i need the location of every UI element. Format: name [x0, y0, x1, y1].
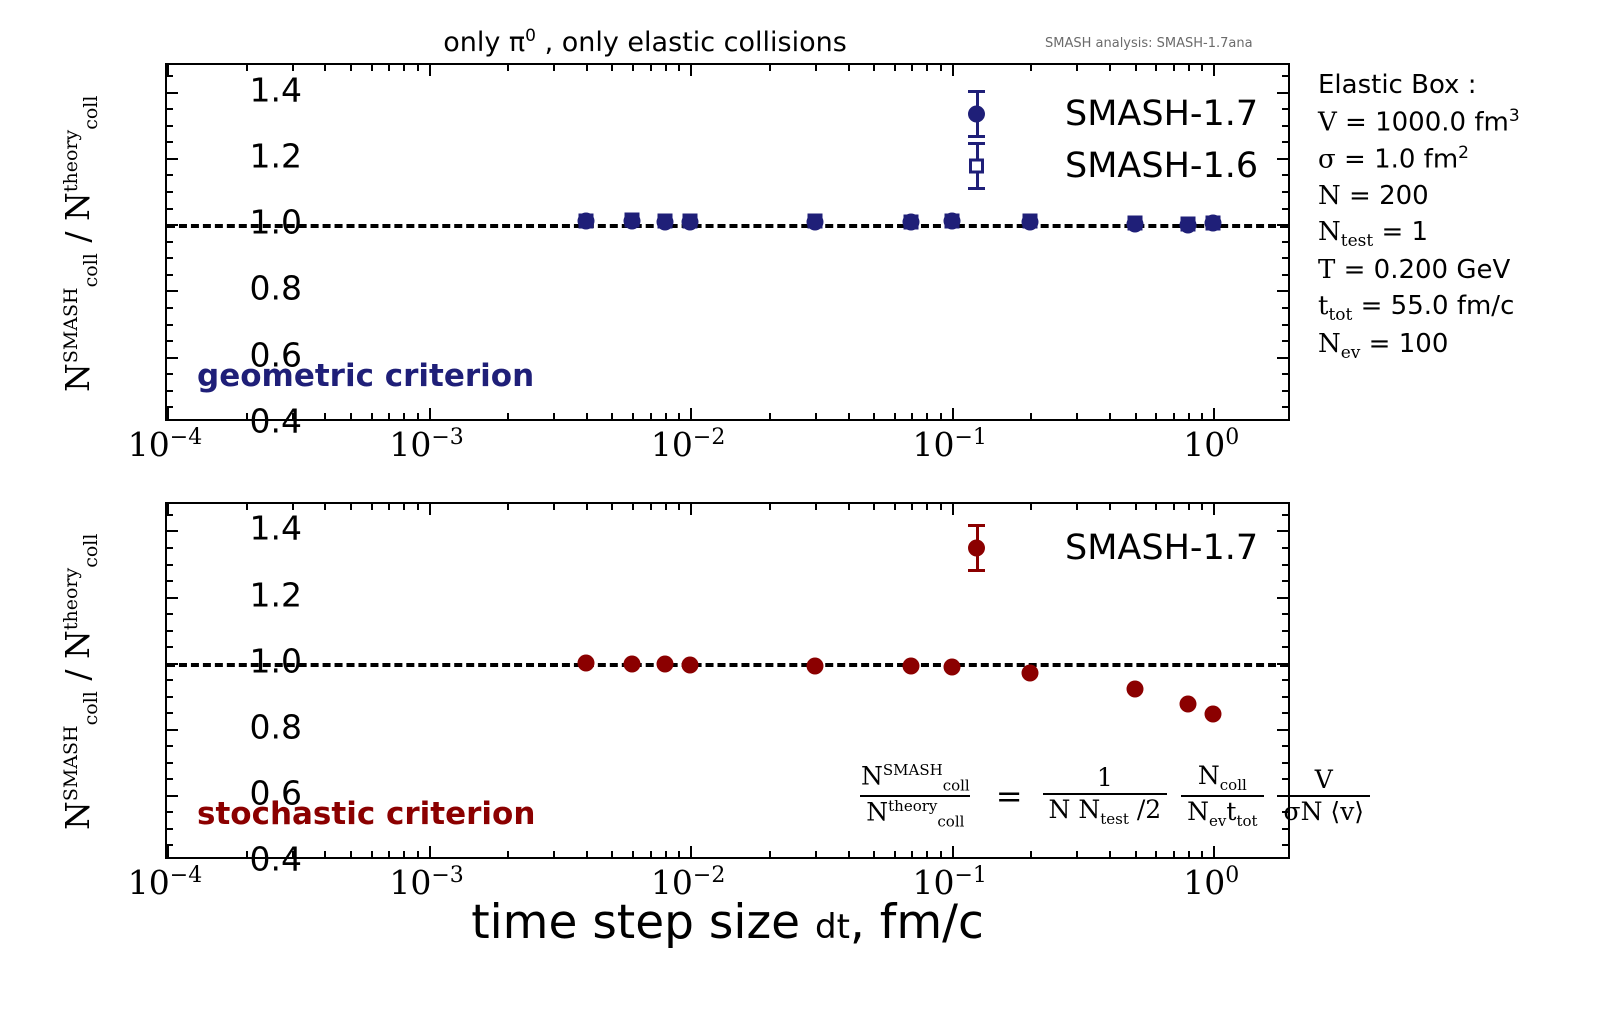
- x-tick-minor: [940, 851, 942, 857]
- y-tick-label: 0.4: [250, 402, 302, 441]
- figure-title-suffix: , only elastic collisions: [536, 27, 847, 58]
- x-tick-minor: [403, 413, 405, 419]
- x-tick-minor: [1076, 851, 1078, 857]
- data-point: [1180, 217, 1195, 232]
- legend-filled-circle-icon: [960, 522, 994, 574]
- x-tick-minor: [350, 413, 352, 419]
- x-tick-label: 10−2: [651, 425, 725, 464]
- x-tick-minor: [894, 413, 896, 419]
- x-tick-minor: [246, 65, 248, 71]
- x-tick-major: [952, 408, 954, 419]
- x-tick-minor: [873, 504, 875, 510]
- x-tick-minor: [1188, 413, 1190, 419]
- y-tick-minor: [167, 630, 173, 632]
- x-tick-minor: [1188, 504, 1190, 510]
- y-tick-label: 0.8: [250, 707, 302, 746]
- x-tick-minor: [1135, 413, 1137, 419]
- x-tick-minor: [1155, 851, 1157, 857]
- y-tick-minor: [1282, 646, 1288, 648]
- x-tick-minor: [940, 504, 942, 510]
- y-tick-minor: [1282, 241, 1288, 243]
- y-tick-minor: [167, 257, 173, 259]
- y-tick-major: [1277, 597, 1288, 599]
- x-tick-minor: [246, 504, 248, 510]
- data-point: [1127, 216, 1142, 231]
- formula-term-2: Ncoll Nevttot: [1181, 762, 1263, 830]
- data-point: [943, 658, 960, 675]
- x-tick-minor: [371, 851, 373, 857]
- y-tick-label: 1.2: [250, 136, 302, 175]
- x-tick-minor: [371, 413, 373, 419]
- x-tick-minor: [324, 413, 326, 419]
- y-tick-minor: [167, 547, 173, 549]
- y-tick-major: [167, 92, 178, 94]
- x-tick-major: [167, 408, 169, 419]
- y-tick-minor: [1282, 141, 1288, 143]
- y-tick-minor: [167, 241, 173, 243]
- x-tick-minor: [665, 413, 667, 419]
- x-tick-major: [952, 504, 954, 515]
- legend-open-square-icon: [960, 140, 994, 192]
- x-tick-major: [167, 65, 169, 76]
- x-tick-major: [1213, 65, 1215, 76]
- y-tick-minor: [1282, 75, 1288, 77]
- x-tick-minor: [388, 504, 390, 510]
- y-tick-major: [1277, 290, 1288, 292]
- x-tick-minor: [417, 504, 419, 510]
- x-tick-minor: [815, 413, 817, 419]
- x-tick-label: 100: [1183, 425, 1239, 464]
- x-tick-minor: [769, 413, 771, 419]
- ratio-formula: NSMASHcoll Ntheorycoll = 1 N Ntest /2 Nc…: [855, 762, 1370, 830]
- annotation-line: Ntest = 1: [1318, 215, 1520, 253]
- data-point: [579, 214, 594, 229]
- x-tick-minor: [417, 851, 419, 857]
- x-tick-minor: [678, 65, 680, 71]
- y-tick-minor: [1282, 514, 1288, 516]
- y-tick-major: [167, 290, 178, 292]
- x-axis-title-units: , fm/c: [850, 895, 984, 950]
- y-tick-major: [167, 663, 178, 665]
- x-tick-minor: [1109, 504, 1111, 510]
- x-tick-minor: [678, 413, 680, 419]
- y-tick-minor: [167, 696, 173, 698]
- x-tick-minor: [911, 413, 913, 419]
- y-tick-major: [167, 597, 178, 599]
- x-tick-minor: [926, 851, 928, 857]
- x-tick-minor: [1030, 413, 1032, 419]
- x-tick-minor: [873, 413, 875, 419]
- x-tick-minor: [1173, 413, 1175, 419]
- x-tick-minor: [324, 851, 326, 857]
- x-tick-minor: [1201, 504, 1203, 510]
- x-tick-minor: [848, 851, 850, 857]
- data-point: [656, 655, 673, 672]
- x-tick-minor: [1109, 65, 1111, 71]
- y-tick-major: [1277, 158, 1288, 160]
- data-point: [624, 656, 641, 673]
- top-y-axis-title: NSMASHcoll / Ntheorycoll: [58, 44, 102, 444]
- y-tick-major: [1277, 663, 1288, 665]
- x-tick-minor: [926, 65, 928, 71]
- data-point: [1206, 215, 1221, 230]
- y-tick-label: 0.8: [250, 269, 302, 308]
- y-tick-major: [167, 795, 178, 797]
- y-tick-major: [1277, 92, 1288, 94]
- x-tick-major: [167, 846, 169, 857]
- x-tick-minor: [1188, 851, 1190, 857]
- annotation-line: σ = 1.0 fm2: [1318, 141, 1520, 178]
- data-point: [1022, 665, 1039, 682]
- x-tick-minor: [1201, 413, 1203, 419]
- x-tick-minor: [350, 851, 352, 857]
- y-tick-minor: [167, 108, 173, 110]
- x-tick-minor: [611, 504, 613, 510]
- x-tick-minor: [350, 504, 352, 510]
- x-tick-minor: [940, 65, 942, 71]
- data-point: [903, 657, 920, 674]
- data-point: [944, 213, 959, 228]
- x-tick-minor: [815, 504, 817, 510]
- x-tick-major: [690, 504, 692, 515]
- y-tick-label: 0.4: [250, 840, 302, 879]
- data-point: [657, 214, 672, 229]
- x-tick-minor: [911, 65, 913, 71]
- y-tick-minor: [167, 828, 173, 830]
- y-tick-major: [167, 224, 178, 226]
- legend-label: SMASH-1.6: [1065, 146, 1258, 186]
- data-point: [578, 654, 595, 671]
- x-tick-minor: [1076, 65, 1078, 71]
- y-tick-minor: [1282, 390, 1288, 392]
- y-tick-minor: [167, 208, 173, 210]
- y-tick-minor: [167, 679, 173, 681]
- y-tick-minor: [167, 340, 173, 342]
- x-tick-minor: [1155, 65, 1157, 71]
- x-tick-minor: [1155, 413, 1157, 419]
- x-tick-minor: [1109, 851, 1111, 857]
- x-tick-minor: [873, 851, 875, 857]
- y-tick-minor: [167, 580, 173, 582]
- x-tick-minor: [1135, 851, 1137, 857]
- y-tick-minor: [1282, 208, 1288, 210]
- x-tick-minor: [586, 65, 588, 71]
- data-point: [625, 213, 640, 228]
- x-tick-major: [429, 504, 431, 515]
- annotation-line: V = 1000.0 fm3: [1318, 104, 1520, 141]
- formula-lhs: NSMASHcoll Ntheorycoll: [855, 762, 976, 830]
- x-tick-label: 10−3: [389, 425, 463, 464]
- y-tick-minor: [1282, 174, 1288, 176]
- data-point: [682, 656, 699, 673]
- x-tick-minor: [911, 504, 913, 510]
- x-tick-minor: [665, 504, 667, 510]
- y-tick-minor: [1282, 307, 1288, 309]
- y-tick-label: 1.4: [250, 70, 302, 109]
- stochastic-criterion-label: stochastic criterion: [197, 796, 535, 832]
- y-tick-minor: [167, 191, 173, 193]
- data-point: [1205, 705, 1222, 722]
- x-tick-minor: [678, 504, 680, 510]
- y-tick-minor: [167, 564, 173, 566]
- x-tick-minor: [1135, 65, 1137, 71]
- y-tick-minor: [1282, 324, 1288, 326]
- y-tick-minor: [1282, 108, 1288, 110]
- data-point: [1179, 695, 1196, 712]
- y-tick-minor: [1282, 547, 1288, 549]
- x-tick-minor: [553, 413, 555, 419]
- x-tick-minor: [632, 413, 634, 419]
- x-tick-minor: [894, 504, 896, 510]
- x-tick-minor: [815, 65, 817, 71]
- x-tick-minor: [926, 413, 928, 419]
- y-tick-minor: [1282, 257, 1288, 259]
- y-tick-minor: [1282, 745, 1288, 747]
- x-tick-minor: [586, 413, 588, 419]
- x-tick-major: [952, 65, 954, 76]
- x-tick-major: [1213, 846, 1215, 857]
- y-tick-minor: [167, 390, 173, 392]
- x-tick-minor: [1188, 65, 1190, 71]
- x-tick-minor: [586, 504, 588, 510]
- bottom-y-axis-title: NSMASHcoll / Ntheorycoll: [58, 482, 102, 882]
- unity-reference-line: [167, 663, 1288, 667]
- y-tick-minor: [1282, 274, 1288, 276]
- x-tick-minor: [246, 413, 248, 419]
- x-tick-minor: [650, 851, 652, 857]
- annotation-title: Elastic Box :: [1318, 68, 1520, 104]
- y-tick-major: [1277, 530, 1288, 532]
- formula-term-1: 1 N Ntest /2: [1043, 764, 1168, 828]
- x-tick-minor: [417, 413, 419, 419]
- unity-reference-line: [167, 224, 1288, 228]
- x-tick-major: [952, 846, 954, 857]
- x-axis-title-dt: dt: [815, 907, 850, 947]
- x-tick-minor: [665, 851, 667, 857]
- x-tick-minor: [1173, 504, 1175, 510]
- x-tick-minor: [678, 851, 680, 857]
- x-tick-minor: [873, 65, 875, 71]
- x-tick-minor: [650, 65, 652, 71]
- figure-canvas: only π0 , only elastic collisions SMASH …: [0, 0, 1600, 1018]
- y-tick-minor: [167, 811, 173, 813]
- x-tick-minor: [665, 65, 667, 71]
- y-tick-major: [167, 729, 178, 731]
- y-tick-minor: [1282, 712, 1288, 714]
- x-tick-minor: [769, 504, 771, 510]
- formula-term-3: V σN ⟨v⟩: [1278, 766, 1371, 826]
- x-tick-minor: [769, 851, 771, 857]
- x-tick-minor: [926, 504, 928, 510]
- data-point: [806, 657, 823, 674]
- x-tick-minor: [371, 504, 373, 510]
- x-tick-minor: [611, 65, 613, 71]
- x-tick-major: [690, 846, 692, 857]
- x-tick-minor: [1030, 504, 1032, 510]
- figure-title-prefix: only: [443, 27, 509, 58]
- y-tick-minor: [1282, 580, 1288, 582]
- x-tick-minor: [632, 65, 634, 71]
- x-tick-minor: [507, 413, 509, 419]
- annotation-line: T = 0.200 GeV: [1318, 253, 1520, 289]
- y-tick-minor: [1282, 125, 1288, 127]
- y-tick-minor: [167, 174, 173, 176]
- y-tick-label: 1.2: [250, 575, 302, 614]
- x-tick-minor: [1135, 504, 1137, 510]
- data-point: [1023, 214, 1038, 229]
- y-tick-minor: [167, 712, 173, 714]
- x-tick-minor: [586, 851, 588, 857]
- x-tick-minor: [815, 851, 817, 857]
- x-tick-minor: [403, 851, 405, 857]
- x-tick-minor: [1109, 413, 1111, 419]
- annotation-line: Nev = 100: [1318, 327, 1520, 365]
- data-point: [904, 214, 919, 229]
- y-tick-minor: [167, 307, 173, 309]
- x-tick-minor: [507, 65, 509, 71]
- x-tick-label: 10−1: [912, 425, 986, 464]
- y-tick-minor: [1282, 406, 1288, 408]
- x-tick-minor: [388, 413, 390, 419]
- x-tick-minor: [1201, 65, 1203, 71]
- analysis-tag: SMASH analysis: SMASH-1.7ana: [1045, 36, 1253, 51]
- x-tick-minor: [650, 413, 652, 419]
- legend-filled-circle-icon: [960, 88, 994, 140]
- x-tick-minor: [246, 851, 248, 857]
- x-tick-minor: [417, 65, 419, 71]
- x-tick-minor: [650, 504, 652, 510]
- y-tick-major: [1277, 729, 1288, 731]
- x-tick-minor: [848, 504, 850, 510]
- y-tick-minor: [1282, 373, 1288, 375]
- x-tick-minor: [632, 504, 634, 510]
- x-tick-minor: [848, 413, 850, 419]
- x-tick-minor: [1155, 504, 1157, 510]
- x-tick-label: 10−4: [128, 425, 202, 464]
- y-tick-minor: [1282, 340, 1288, 342]
- y-tick-minor: [1282, 844, 1288, 846]
- x-tick-minor: [403, 65, 405, 71]
- y-tick-minor: [1282, 679, 1288, 681]
- geometric-criterion-label: geometric criterion: [197, 358, 534, 394]
- x-axis-title-main: time step size: [471, 895, 815, 950]
- data-point: [683, 214, 698, 229]
- x-tick-minor: [611, 851, 613, 857]
- y-tick-major: [167, 357, 178, 359]
- y-tick-major: [1277, 224, 1288, 226]
- x-tick-minor: [1201, 851, 1203, 857]
- x-tick-minor: [1030, 851, 1032, 857]
- x-tick-major: [167, 504, 169, 515]
- y-tick-minor: [167, 125, 173, 127]
- annotation-line: N = 200: [1318, 179, 1520, 215]
- x-tick-major: [1213, 504, 1215, 515]
- x-tick-minor: [911, 851, 913, 857]
- x-tick-minor: [371, 65, 373, 71]
- x-tick-major: [1213, 408, 1215, 419]
- y-tick-label: 1.4: [250, 509, 302, 548]
- pion-symbol: π0: [509, 27, 536, 58]
- x-tick-minor: [324, 65, 326, 71]
- x-tick-minor: [1030, 65, 1032, 71]
- y-tick-minor: [167, 762, 173, 764]
- annotation-line: ttot = 55.0 fm/c: [1318, 289, 1520, 327]
- x-tick-major: [690, 408, 692, 419]
- y-tick-minor: [167, 274, 173, 276]
- x-tick-minor: [848, 65, 850, 71]
- y-tick-label: 1.0: [250, 203, 302, 242]
- y-tick-minor: [167, 324, 173, 326]
- y-tick-minor: [167, 613, 173, 615]
- x-tick-minor: [553, 851, 555, 857]
- data-point: [807, 213, 822, 228]
- y-tick-minor: [167, 141, 173, 143]
- y-tick-minor: [1282, 564, 1288, 566]
- legend-label: SMASH-1.7: [1065, 94, 1258, 134]
- x-tick-minor: [940, 413, 942, 419]
- x-tick-major: [690, 65, 692, 76]
- x-tick-minor: [403, 504, 405, 510]
- x-tick-minor: [1076, 504, 1078, 510]
- x-tick-minor: [1076, 413, 1078, 419]
- x-tick-minor: [632, 851, 634, 857]
- y-tick-minor: [1282, 191, 1288, 193]
- x-tick-minor: [894, 65, 896, 71]
- x-tick-minor: [507, 504, 509, 510]
- y-tick-major: [167, 530, 178, 532]
- formula-equals: =: [990, 777, 1029, 815]
- y-tick-minor: [1282, 630, 1288, 632]
- x-tick-major: [429, 408, 431, 419]
- x-tick-minor: [553, 504, 555, 510]
- x-tick-minor: [553, 65, 555, 71]
- x-tick-major: [429, 846, 431, 857]
- parameter-annotation: Elastic Box :V = 1000.0 fm3σ = 1.0 fm2N …: [1318, 68, 1520, 365]
- x-tick-minor: [324, 504, 326, 510]
- x-tick-minor: [769, 65, 771, 71]
- y-tick-major: [1277, 357, 1288, 359]
- x-tick-minor: [350, 65, 352, 71]
- y-tick-label: 1.0: [250, 641, 302, 680]
- x-tick-minor: [388, 851, 390, 857]
- x-tick-minor: [894, 851, 896, 857]
- data-point: [1126, 681, 1143, 698]
- y-tick-minor: [167, 745, 173, 747]
- y-tick-minor: [167, 778, 173, 780]
- y-tick-minor: [167, 646, 173, 648]
- y-tick-minor: [1282, 696, 1288, 698]
- y-tick-minor: [1282, 613, 1288, 615]
- y-tick-major: [167, 158, 178, 160]
- y-tick-minor: [167, 373, 173, 375]
- x-tick-minor: [1173, 851, 1175, 857]
- legend-label: SMASH-1.7: [1065, 528, 1258, 568]
- x-tick-minor: [507, 851, 509, 857]
- x-tick-minor: [1173, 65, 1175, 71]
- x-tick-major: [429, 65, 431, 76]
- x-tick-minor: [611, 413, 613, 419]
- x-tick-minor: [388, 65, 390, 71]
- x-axis-title: time step size dt, fm/c: [165, 895, 1290, 950]
